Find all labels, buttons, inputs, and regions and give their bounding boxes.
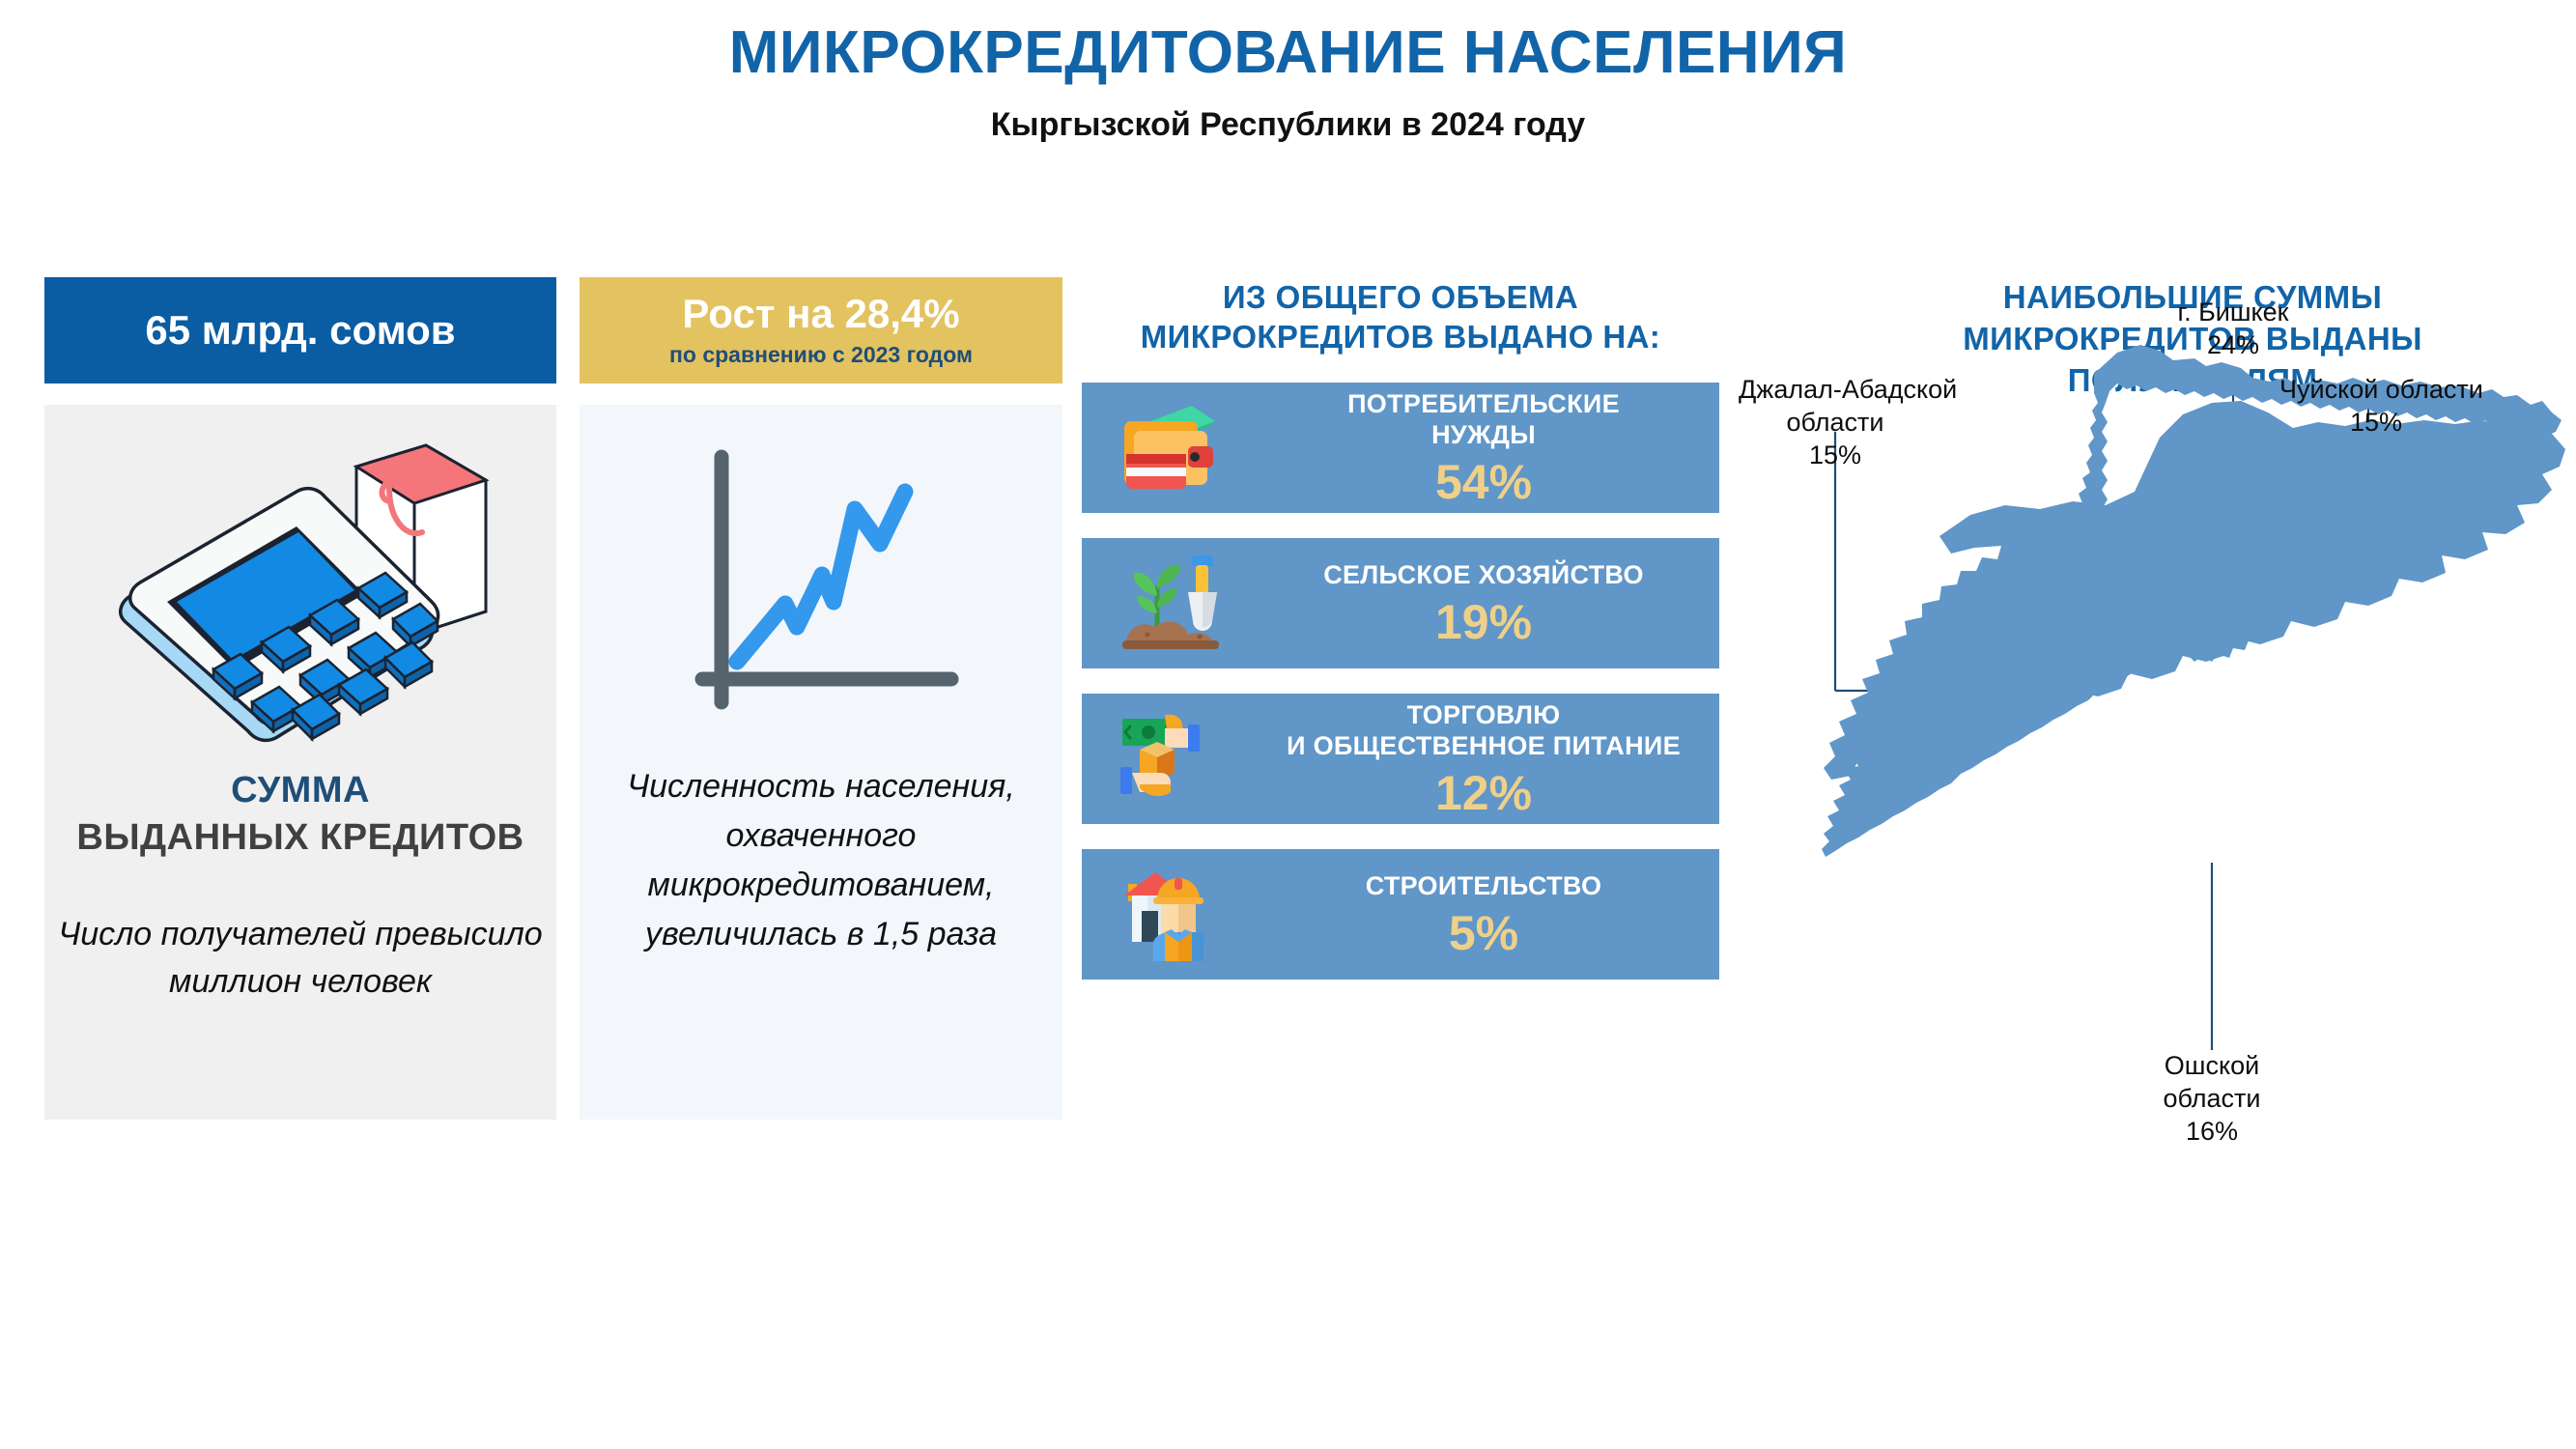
purpose-value: 5% <box>1449 909 1518 957</box>
wallet-cards-icon <box>1082 383 1265 513</box>
map-label-jalal-abad-name-line1: Джалал-Абадской <box>1739 375 1957 404</box>
growth-panel: Рост на 28,4% по сравнению с 2023 годом … <box>580 277 1062 1120</box>
map-label-bishkek-name: г. Бишкек <box>2178 298 2289 327</box>
purpose-value: 12% <box>1435 769 1532 817</box>
growth-banner: Рост на 28,4% по сравнению с 2023 годом <box>580 277 1062 384</box>
purpose-text-agriculture: СЕЛЬСКОЕ ХОЗЯЙСТВО 19% <box>1265 559 1719 646</box>
regions-panel: НАИБОЛЬШИЕ СУММЫ МИКРОКРЕДИТОВ ВЫДАНЫ ПО… <box>1816 277 2569 1359</box>
amount-text-block: СУММА ВЫДАННЫХ КРЕДИТОВ Число получателе… <box>44 770 556 1007</box>
growth-banner-sublabel: по сравнению с 2023 годом <box>669 342 973 368</box>
purpose-text-consumer: ПОТРЕБИТЕЛЬСКИЕ НУЖДЫ 54% <box>1265 388 1719 507</box>
growth-panel-body: Численность населения, охваченного микро… <box>580 405 1062 1120</box>
purposes-heading: ИЗ ОБЩЕГО ОБЪЕМА МИКРОКРЕДИТОВ ВЫДАНО НА… <box>1082 277 1719 357</box>
purpose-bar-agriculture[interactable]: СЕЛЬСКОЕ ХОЗЯЙСТВО 19% <box>1082 538 1719 668</box>
kyrgyzstan-map-area: г. Бишкек 24% Джалал-Абадской области 15… <box>1816 277 2569 1359</box>
map-label-osh: Ошской области 16% <box>2117 1050 2307 1148</box>
amount-panel-body: СУММА ВЫДАННЫХ КРЕДИТОВ Число получателе… <box>44 405 556 1120</box>
purposes-heading-line1: ИЗ ОБЩЕГО ОБЪЕМА <box>1082 277 1719 317</box>
map-label-osh-value: 16% <box>2117 1116 2307 1149</box>
purpose-label-line1: СТРОИТЕЛЬСТВО <box>1366 870 1602 901</box>
amount-panel: 65 млрд. сомов <box>44 277 556 1120</box>
calculator-shopping-bag-icon <box>107 428 494 752</box>
purpose-label-line2: НУЖДЫ <box>1431 419 1536 450</box>
page-subtitle: Кыргызской Республики в 2024 году <box>0 107 2576 143</box>
map-label-jalal-abad-name-line2: области <box>1787 408 1884 437</box>
purpose-label-line1: ПОТРЕБИТЕЛЬСКИЕ <box>1347 388 1620 419</box>
amount-note: Число получателей превысило миллион чело… <box>44 911 556 1007</box>
map-label-chuy: Чуйской области 15% <box>2279 374 2473 440</box>
map-label-chuy-name: Чуйской области <box>2279 375 2483 404</box>
map-label-osh-name-line1: Ошской <box>2165 1051 2259 1080</box>
map-label-bishkek: г. Бишкек 24% <box>2150 297 2316 362</box>
amount-heading-primary: СУММА <box>44 770 556 811</box>
purpose-bar-trade[interactable]: ТОРГОВЛЮ И ОБЩЕСТВЕННОЕ ПИТАНИЕ 12% <box>1082 694 1719 824</box>
map-label-bishkek-value: 24% <box>2150 329 2316 362</box>
sprout-shovel-icon <box>1082 538 1265 668</box>
money-parcel-hands-icon <box>1082 694 1265 824</box>
purpose-bar-construction[interactable]: СТРОИТЕЛЬСТВО 5% <box>1082 849 1719 980</box>
growth-banner-label: Рост на 28,4% <box>682 294 959 334</box>
purpose-text-trade: ТОРГОВЛЮ И ОБЩЕСТВЕННОЕ ПИТАНИЕ 12% <box>1265 699 1719 818</box>
growth-note: Численность населения, охваченного микро… <box>580 762 1062 959</box>
map-label-chuy-value: 15% <box>2279 407 2473 440</box>
purpose-value: 54% <box>1435 458 1532 506</box>
page-title: МИКРОКРЕДИТОВАНИЕ НАСЕЛЕНИЯ <box>0 21 2576 84</box>
amount-banner-label: 65 млрд. сомов <box>145 307 455 354</box>
amount-banner: 65 млрд. сомов <box>44 277 556 384</box>
purpose-value: 19% <box>1435 598 1532 646</box>
map-label-osh-name-line2: области <box>2164 1084 2261 1113</box>
kyrgyzstan-map-silhouette <box>1824 401 2565 780</box>
purposes-panel: ИЗ ОБЩЕГО ОБЪЕМА МИКРОКРЕДИТОВ ВЫДАНО НА… <box>1082 277 1719 980</box>
purpose-bar-consumer[interactable]: ПОТРЕБИТЕЛЬСКИЕ НУЖДЫ 54% <box>1082 383 1719 513</box>
map-label-jalal-abad: Джалал-Абадской области 15% <box>1739 374 1932 471</box>
purpose-label-line1: ТОРГОВЛЮ <box>1407 699 1561 730</box>
purpose-label-line2: И ОБЩЕСТВЕННОЕ ПИТАНИЕ <box>1287 730 1681 761</box>
page-header: МИКРОКРЕДИТОВАНИЕ НАСЕЛЕНИЯ Кыргызской Р… <box>0 21 2576 143</box>
purposes-heading-line2: МИКРОКРЕДИТОВ ВЫДАНО НА: <box>1082 317 1719 356</box>
purpose-text-construction: СТРОИТЕЛЬСТВО 5% <box>1265 870 1719 957</box>
purpose-label-line1: СЕЛЬСКОЕ ХОЗЯЙСТВО <box>1323 559 1644 590</box>
map-label-jalal-abad-value: 15% <box>1739 440 1932 472</box>
amount-heading-secondary: ВЫДАННЫХ КРЕДИТОВ <box>44 817 556 859</box>
growth-chart-icon <box>662 434 980 748</box>
builder-house-icon <box>1082 849 1265 980</box>
